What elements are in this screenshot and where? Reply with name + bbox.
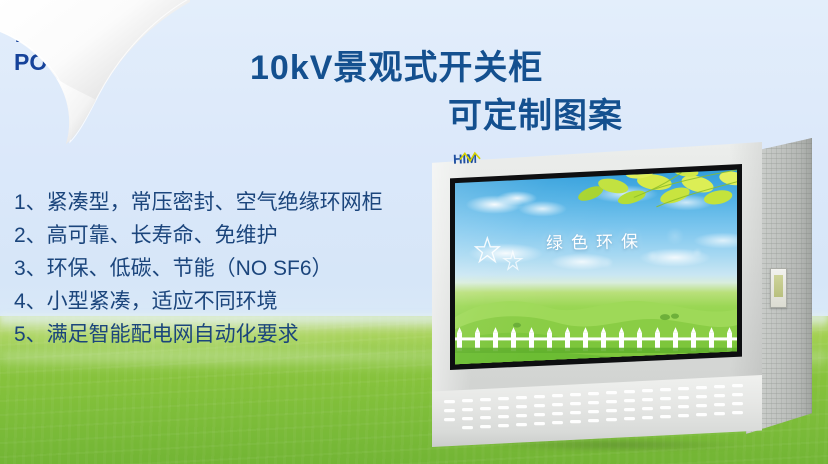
billboard-fence xyxy=(455,326,737,353)
feature-item: 5、满足智能配电网自动化要求 xyxy=(14,318,444,351)
poster-canvas: HIM POWER xyxy=(0,0,828,464)
billboard-leaves-icon xyxy=(568,169,737,232)
feature-item: 3、环保、低碳、节能（NO SF6） xyxy=(14,252,444,285)
cabinet-him-badge-icon: HIM xyxy=(452,149,496,166)
logo-power-text: POWER xyxy=(14,50,134,74)
switchgear-cabinet: HIM xyxy=(428,128,828,454)
billboard-panel: 绿色环保 xyxy=(455,169,737,365)
logo-waveform-icon xyxy=(36,14,114,50)
poster-title-line1: 10kV景观式开关柜 xyxy=(250,40,543,89)
feature-item: 1、紧凑型，常压密封、空气绝缘环网柜 xyxy=(14,186,444,219)
brand-logo-area: HIM POWER xyxy=(0,0,170,118)
feature-item: 2、高可靠、长寿命、免维护 xyxy=(14,219,444,252)
feature-item: 4、小型紧凑，适应不同环境 xyxy=(14,285,444,318)
feature-list: 1、紧凑型，常压密封、空气绝缘环网柜 2、高可靠、长寿命、免维护 3、环保、低碳… xyxy=(14,186,444,351)
billboard-slogan: 绿色环保 xyxy=(455,225,737,255)
him-power-logo: HIM POWER xyxy=(14,14,134,76)
cabinet-side-label xyxy=(770,268,787,308)
